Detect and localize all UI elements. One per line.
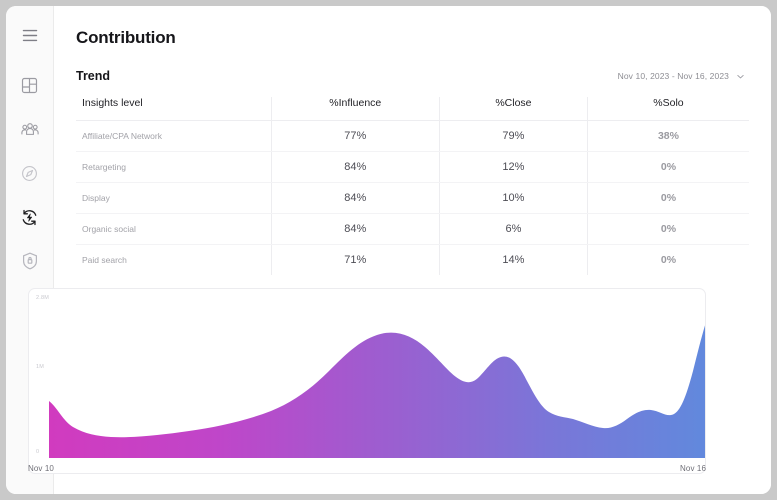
trend-chart-card[interactable]: 2.8M 1M 0 xyxy=(28,288,706,474)
trend-section-label: Trend xyxy=(76,69,110,83)
column-header-insights-level[interactable]: Insights level xyxy=(76,97,271,121)
chevron-down-icon xyxy=(736,72,745,81)
table-header: Insights level %Influence %Close %Solo xyxy=(76,97,749,121)
cell-influence: 71% xyxy=(271,245,439,276)
table-row[interactable]: Paid search 71% 14% 0% xyxy=(76,245,749,276)
sidebar-item-menu-toggle[interactable] xyxy=(14,19,46,51)
area-series-path xyxy=(49,319,706,458)
x-axis-labels: Nov 10 Nov 16 xyxy=(28,464,706,473)
cell-influence: 77% xyxy=(271,121,439,152)
cell-insights-level: Display xyxy=(76,183,271,214)
x-axis-tick-end: Nov 16 xyxy=(680,464,706,473)
cell-insights-level: Retargeting xyxy=(76,152,271,183)
cell-close: 12% xyxy=(439,152,587,183)
area-chart-svg xyxy=(49,295,706,458)
column-header-influence[interactable]: %Influence xyxy=(271,97,439,121)
people-group-icon xyxy=(21,122,39,137)
cell-influence: 84% xyxy=(271,152,439,183)
date-range-picker[interactable]: Nov 10, 2023 - Nov 16, 2023 xyxy=(618,71,749,81)
cell-solo: 0% xyxy=(587,183,749,214)
cell-influence: 84% xyxy=(271,183,439,214)
hamburger-menu-icon xyxy=(22,29,38,42)
table-row[interactable]: Display 84% 10% 0% xyxy=(76,183,749,214)
column-header-close[interactable]: %Close xyxy=(439,97,587,121)
sidebar-item-attribution[interactable] xyxy=(14,201,46,233)
sidebar-item-privacy[interactable] xyxy=(14,245,46,277)
sidebar-item-explore[interactable] xyxy=(14,157,46,189)
sidebar-item-audiences[interactable] xyxy=(14,113,46,145)
cell-insights-level: Organic social xyxy=(76,214,271,245)
shield-lock-icon xyxy=(22,252,38,270)
y-axis-tick-mid: 1M xyxy=(36,364,44,370)
table-header-row: Insights level %Influence %Close %Solo xyxy=(76,97,749,121)
cell-solo: 0% xyxy=(587,245,749,276)
cell-insights-level: Affiliate/CPA Network xyxy=(76,121,271,152)
dashboard-layout-icon xyxy=(21,77,38,94)
table-row[interactable]: Retargeting 84% 12% 0% xyxy=(76,152,749,183)
table-row[interactable]: Organic social 84% 6% 0% xyxy=(76,214,749,245)
x-axis-tick-start: Nov 10 xyxy=(28,464,54,473)
table-body: Affiliate/CPA Network 77% 79% 38% Retarg… xyxy=(76,121,749,276)
cell-close: 14% xyxy=(439,245,587,276)
cell-close: 79% xyxy=(439,121,587,152)
date-range-value: Nov 10, 2023 - Nov 16, 2023 xyxy=(618,71,729,81)
app-window: Contribution Trend Nov 10, 2023 - Nov 16… xyxy=(6,6,771,494)
cell-influence: 84% xyxy=(271,214,439,245)
page-title: Contribution xyxy=(76,28,749,48)
app-root: Contribution Trend Nov 10, 2023 - Nov 16… xyxy=(0,0,777,500)
cell-close: 10% xyxy=(439,183,587,214)
table-row[interactable]: Affiliate/CPA Network 77% 79% 38% xyxy=(76,121,749,152)
cell-solo: 0% xyxy=(587,152,749,183)
column-header-solo[interactable]: %Solo xyxy=(587,97,749,121)
cell-solo: 0% xyxy=(587,214,749,245)
compass-icon xyxy=(21,165,38,182)
chart-plot-area: 2.8M 1M 0 xyxy=(29,289,705,473)
y-axis-tick-top: 2.8M xyxy=(36,295,49,301)
cell-solo: 38% xyxy=(587,121,749,152)
trend-header-row: Trend Nov 10, 2023 - Nov 16, 2023 xyxy=(76,69,749,83)
sidebar-item-dashboard[interactable] xyxy=(14,69,46,101)
lightning-refresh-icon xyxy=(21,209,38,226)
cell-insights-level: Paid search xyxy=(76,245,271,276)
y-axis-tick-zero: 0 xyxy=(36,449,39,455)
cell-close: 6% xyxy=(439,214,587,245)
contribution-table: Insights level %Influence %Close %Solo A… xyxy=(76,97,749,275)
